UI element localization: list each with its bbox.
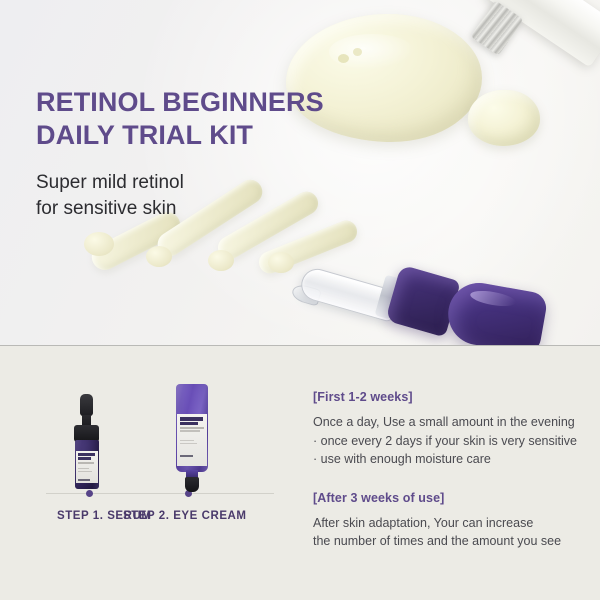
usage-line: the number of times and the amount you s… xyxy=(313,532,585,551)
eye-cream-label-text-line xyxy=(180,440,194,441)
eye-cream-tube-image xyxy=(172,384,212,492)
step-connector-line xyxy=(46,493,274,494)
step-dot-1 xyxy=(86,490,93,497)
page-subtitle: Super mild retinol for sensitive skin xyxy=(36,170,324,222)
usage-heading-1: [First 1-2 weeks] xyxy=(313,390,585,404)
cream-blob-speck-icon xyxy=(353,48,362,56)
usage-instructions: [First 1-2 weeks] Once a day, Use a smal… xyxy=(313,390,585,551)
serum-label-brand-line-2 xyxy=(78,457,91,460)
serum-label-brand-line-1 xyxy=(78,453,95,456)
cream-streak-bulb-icon xyxy=(84,232,114,256)
cream-streak-bulb-icon xyxy=(146,246,172,267)
usage-line: After skin adaptation, Your can increase xyxy=(313,514,585,533)
cream-blob-small-icon xyxy=(468,90,540,146)
eye-cream-label-footer xyxy=(180,455,193,457)
headline-line-1: RETINOL BEGINNERS xyxy=(36,87,324,117)
promo-page: RETINOL BEGINNERS DAILY TRIAL KIT Super … xyxy=(0,0,600,600)
hero-text-group: RETINOL BEGINNERS DAILY TRIAL KIT Super … xyxy=(36,86,324,222)
eye-cream-label-text-line xyxy=(180,427,204,429)
cream-blob-speck-icon xyxy=(338,54,349,63)
serum-label-footer xyxy=(78,479,90,481)
eye-cream-label-brand-line-1 xyxy=(180,417,203,421)
serum-dropper-bulb-icon xyxy=(80,394,93,416)
subtitle-line-1: Super mild retinol xyxy=(36,172,184,193)
eye-cream-label-text-line xyxy=(180,430,200,432)
serum-label-text-line xyxy=(78,462,94,464)
step-label-2: STEP 2. EYE CREAM xyxy=(123,510,247,522)
usage-line: · use with enough moisture care xyxy=(313,450,585,469)
steps-group: STEP 1. SERUM STEP 2. EYE CREAM xyxy=(0,346,300,600)
serum-label-text-line xyxy=(78,471,92,472)
cream-streak-bulb-icon xyxy=(268,252,294,273)
eye-cream-label-brand-line-2 xyxy=(180,422,198,425)
usage-heading-2: [After 3 weeks of use] xyxy=(313,491,585,505)
page-title: RETINOL BEGINNERS DAILY TRIAL KIT xyxy=(36,86,324,152)
usage-spacer xyxy=(313,469,585,491)
headline-line-2: DAILY TRIAL KIT xyxy=(36,120,253,150)
eye-cream-label-text-line xyxy=(180,443,197,444)
section-divider xyxy=(0,345,600,346)
eye-cream-cap-icon xyxy=(185,477,199,492)
serum-label-text-line xyxy=(78,468,89,469)
usage-line: Once a day, Use a small amount in the ev… xyxy=(313,413,585,432)
cream-streak-bulb-icon xyxy=(208,250,234,271)
serum-bottle-image xyxy=(72,394,102,489)
steps-section: STEP 1. SERUM STEP 2. EYE CREAM [First 1… xyxy=(0,346,600,600)
usage-line: · once every 2 days if your skin is very… xyxy=(313,432,585,451)
subtitle-line-2: for sensitive skin xyxy=(36,198,176,219)
hero-section: RETINOL BEGINNERS DAILY TRIAL KIT Super … xyxy=(0,0,600,345)
